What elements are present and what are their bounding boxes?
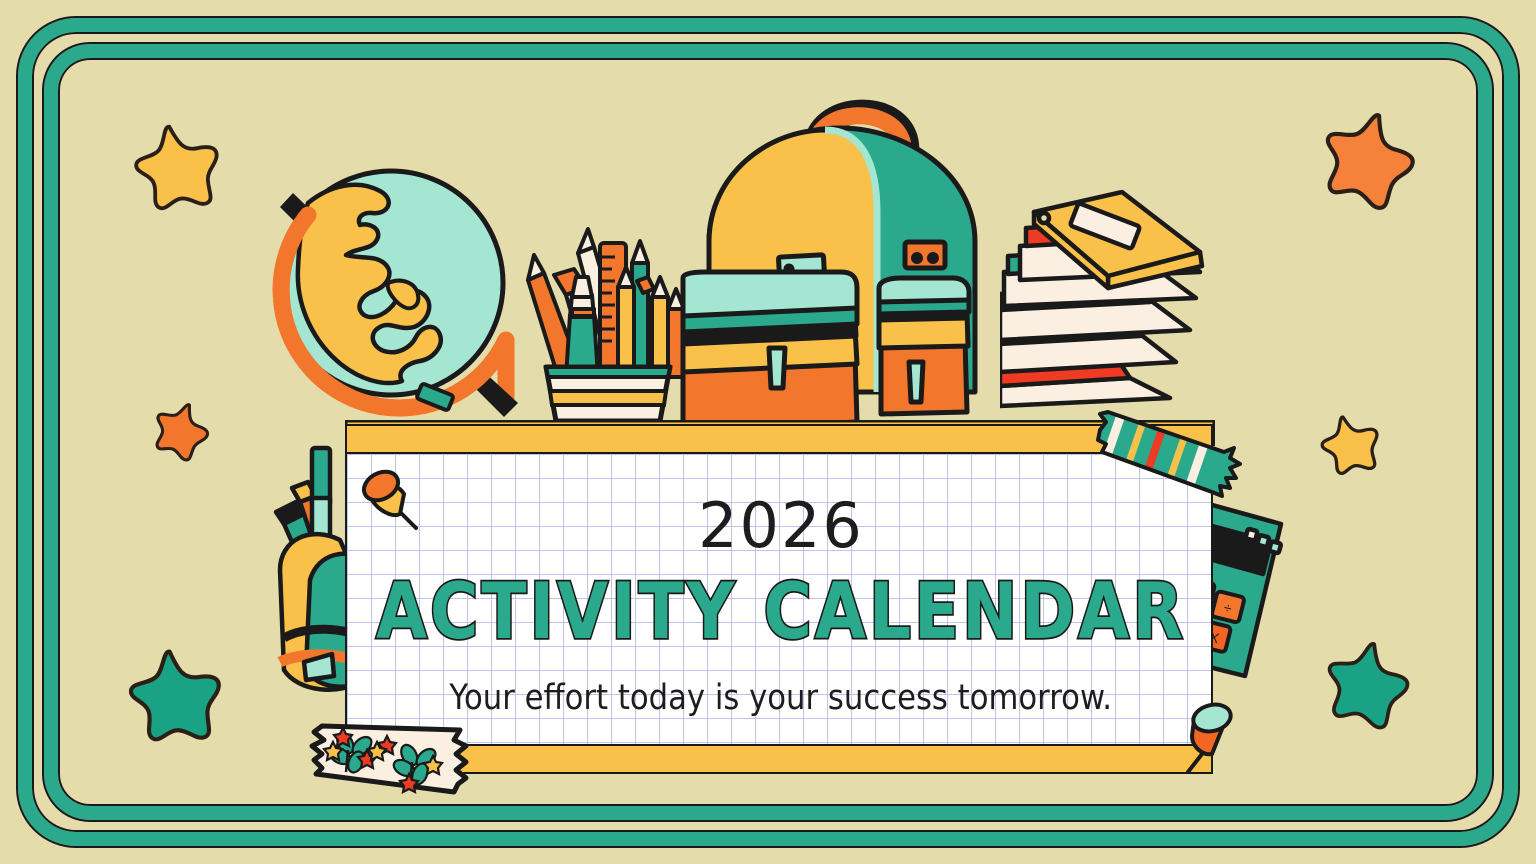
star-mid-left: [150, 400, 212, 462]
backpack: [665, 92, 1015, 432]
poster-canvas: 3 ÷ 6 X =: [0, 0, 1536, 864]
star-top-left: [130, 120, 226, 216]
washi-tape-striped: [1094, 412, 1244, 517]
washi-tape-floral: [306, 712, 476, 802]
card-grid-paper: 2026 ACTIVITY CALENDAR Your effort today…: [345, 452, 1213, 746]
star-mid-right: [1318, 412, 1384, 478]
pushpin-bottom-right: [1176, 698, 1246, 778]
book-stack: [1000, 190, 1230, 430]
star-top-right: [1316, 108, 1420, 212]
card-top-bar: [345, 424, 1213, 454]
globe: [268, 155, 538, 430]
star-bottom-right: [1320, 638, 1414, 732]
year-text: 2026: [698, 495, 864, 557]
star-bottom-left: [124, 645, 228, 749]
pushpin-top-left: [358, 466, 428, 536]
page-title: ACTIVITY CALENDAR: [376, 573, 1186, 651]
subtitle-text: Your effort today is your success tomorr…: [450, 681, 1113, 716]
